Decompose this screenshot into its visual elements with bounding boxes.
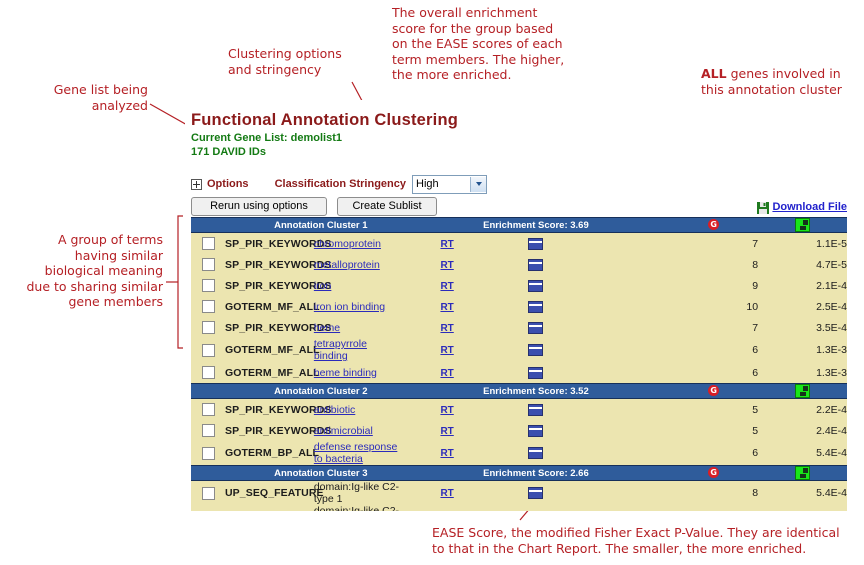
related-term-search-cell[interactable]: RT [403, 481, 492, 506]
annotation-clusters-body: Annotation Cluster 1Enrichment Score: 3.… [191, 218, 847, 512]
rt-link[interactable]: RT [440, 239, 453, 250]
cluster-all-genes-button[interactable]: G [669, 218, 758, 233]
gene-list-icon[interactable] [528, 301, 543, 313]
ease-pvalue: 2.5E-4 [758, 296, 847, 317]
genes-list-cell[interactable] [492, 481, 581, 506]
david-ids-count: 171 DAVID IDs [191, 146, 853, 158]
term-name-cell: antimicrobial [314, 420, 403, 441]
row-spacer [580, 481, 669, 506]
ease-pvalue: 5.4E-4 [758, 441, 847, 466]
cluster-header-pad [191, 218, 225, 233]
table-row: GOTERM_MF_ALLtetrapyrrole bindingRT61.3E… [191, 338, 847, 362]
row-spacer [580, 362, 669, 384]
row-checkbox-cell[interactable] [191, 275, 225, 296]
rt-link[interactable]: RT [440, 345, 453, 356]
cluster-chart-button[interactable] [758, 384, 847, 399]
rt-link[interactable]: RT [440, 281, 453, 292]
term-name-cell: domain:Ig-like C2-type 1 [314, 481, 403, 506]
genes-list-cell[interactable] [492, 317, 581, 338]
related-term-search-cell[interactable]: RT [403, 399, 492, 421]
page-title: Functional Annotation Clustering [191, 111, 853, 130]
row-spacer [580, 505, 669, 511]
row-checkbox[interactable] [202, 279, 215, 292]
table-row: SP_PIR_KEYWORDSantibioticRT52.2E-4 [191, 399, 847, 421]
cluster-header-pad [191, 384, 225, 399]
term-category: GOTERM_MF_ALL [225, 296, 314, 317]
row-checkbox[interactable] [202, 258, 215, 271]
cluster-name: Annotation Cluster 2 [225, 384, 403, 399]
term-name-cell: domain:Ig-like C2-type 2 [314, 505, 403, 511]
row-checkbox[interactable] [202, 424, 215, 437]
term-link[interactable]: metalloprotein [314, 259, 380, 271]
row-checkbox-cell[interactable] [191, 505, 225, 511]
row-spacer [580, 275, 669, 296]
genes-list-cell[interactable] [492, 338, 581, 362]
red-g-icon[interactable]: G [708, 385, 719, 396]
gene-count: 5 [669, 399, 758, 421]
row-checkbox-cell[interactable] [191, 233, 225, 255]
cluster-chart-button[interactable] [758, 218, 847, 233]
term-name-cell: tetrapyrrole binding [314, 338, 403, 362]
green-chart-icon[interactable] [795, 466, 810, 480]
row-checkbox-cell[interactable] [191, 338, 225, 362]
genes-list-cell[interactable] [492, 233, 581, 255]
term-category: SP_PIR_KEYWORDS [225, 420, 314, 441]
term-link[interactable]: heme [314, 322, 340, 334]
stringency-label: Classification Stringency [275, 178, 406, 190]
download-file-area[interactable]: Download File [757, 201, 847, 213]
related-term-search-cell[interactable]: RT [403, 233, 492, 255]
cluster-enrichment-score: Enrichment Score: 3.52 [403, 384, 670, 399]
term-category: UP_SEQ_FEATURE [225, 481, 314, 506]
chevron-down-icon[interactable] [470, 177, 486, 192]
cluster-header-row[interactable]: Annotation Cluster 1Enrichment Score: 3.… [191, 218, 847, 233]
related-term-search-cell[interactable]: RT [403, 441, 492, 466]
term-name-cell: metalloprotein [314, 254, 403, 275]
rt-link[interactable]: RT [440, 488, 453, 499]
table-row: SP_PIR_KEYWORDSchromoproteinRT71.1E-5 [191, 233, 847, 255]
row-checkbox-cell[interactable] [191, 254, 225, 275]
row-checkbox-cell[interactable] [191, 481, 225, 506]
cluster-all-genes-button[interactable]: G [669, 384, 758, 399]
cluster-name: Annotation Cluster 1 [225, 218, 403, 233]
action-button-row: Rerun using options Create Sublist [191, 197, 853, 216]
david-app-panel: Functional Annotation Clustering Current… [185, 100, 853, 511]
annotation-all-genes: ALL genes involved in this annotation cl… [701, 66, 861, 97]
gene-count: 6 [669, 338, 758, 362]
rt-link[interactable]: RT [440, 448, 453, 459]
table-row: UP_SEQ_FEATUREdomain:Ig-like C2-type 2RT… [191, 505, 847, 511]
green-chart-icon[interactable] [795, 218, 810, 232]
ease-pvalue: 4.7E-5 [758, 254, 847, 275]
term-link[interactable]: defense response to bacteria [314, 441, 397, 465]
ease-pvalue: 1.1E-5 [758, 233, 847, 255]
annotation-all-genes-bold: ALL [701, 66, 727, 81]
annotation-ease-score: EASE Score, the modified Fisher Exact P-… [432, 525, 862, 556]
table-row: SP_PIR_KEYWORDSantimicrobialRT52.4E-4 [191, 420, 847, 441]
gene-list-icon[interactable] [528, 259, 543, 271]
related-term-search-cell[interactable]: RT [403, 317, 492, 338]
gene-count: 8 [669, 254, 758, 275]
term-name-cell: antibiotic [314, 399, 403, 421]
term-link[interactable]: antibiotic [314, 404, 355, 416]
annotation-enrichment-score: The overall enrichment score for the gro… [392, 5, 582, 83]
download-file-link[interactable]: Download File [772, 201, 847, 213]
term-name-cell: iron [314, 275, 403, 296]
ease-pvalue: 2.1E-4 [758, 275, 847, 296]
term-text: domain:Ig-like C2-type 2 [314, 505, 399, 511]
gene-list-icon[interactable] [528, 404, 543, 416]
table-row: SP_PIR_KEYWORDSironRT92.1E-4 [191, 275, 847, 296]
table-row: UP_SEQ_FEATUREdomain:Ig-like C2-type 1RT… [191, 481, 847, 506]
term-category: SP_PIR_KEYWORDS [225, 317, 314, 338]
stringency-select[interactable]: High [412, 175, 487, 194]
related-term-search-cell[interactable]: RT [403, 296, 492, 317]
term-link[interactable]: iron [314, 280, 332, 292]
related-term-search-cell[interactable]: RT [403, 254, 492, 275]
rt-link[interactable]: RT [440, 302, 453, 313]
ease-pvalue: 2.4E-4 [758, 420, 847, 441]
annotation-clustering-options: Clustering options and stringency [228, 46, 388, 77]
row-checkbox[interactable] [202, 403, 215, 416]
cluster-name: Annotation Cluster 3 [225, 466, 403, 481]
row-spacer [580, 441, 669, 466]
save-disk-icon [757, 201, 769, 213]
annotation-gene-list: Gene list being analyzed [20, 82, 148, 113]
term-category: UP_SEQ_FEATURE [225, 505, 314, 511]
row-checkbox[interactable] [202, 447, 215, 460]
term-link[interactable]: iron ion binding [314, 301, 385, 313]
term-link[interactable]: heme binding [314, 367, 377, 379]
gene-list-icon[interactable] [528, 425, 543, 437]
create-sublist-button[interactable]: Create Sublist [337, 197, 437, 216]
table-row: GOTERM_BP_ALLdefense response to bacteri… [191, 441, 847, 466]
green-chart-icon[interactable] [795, 384, 810, 398]
row-checkbox-cell[interactable] [191, 362, 225, 384]
related-term-search-cell[interactable]: RT [403, 338, 492, 362]
gene-count: 6 [669, 362, 758, 384]
cluster-enrichment-score: Enrichment Score: 3.69 [403, 218, 670, 233]
row-spacer [580, 420, 669, 441]
ease-pvalue: 5.4E-4 [758, 505, 847, 511]
cluster-enrichment-score: Enrichment Score: 2.66 [403, 466, 670, 481]
row-checkbox[interactable] [202, 511, 215, 512]
ease-pvalue: 3.5E-4 [758, 317, 847, 338]
cluster-all-genes-button[interactable]: G [669, 466, 758, 481]
row-spacer [580, 399, 669, 421]
gene-list-icon[interactable] [528, 344, 543, 356]
term-link[interactable]: antimicrobial [314, 425, 373, 437]
term-name-cell: heme binding [314, 362, 403, 384]
term-name-cell: chromoprotein [314, 233, 403, 255]
term-link[interactable]: chromoprotein [314, 238, 381, 250]
term-category: SP_PIR_KEYWORDS [225, 233, 314, 255]
genes-list-cell[interactable] [492, 505, 581, 511]
table-row: SP_PIR_KEYWORDSmetalloproteinRT84.7E-5 [191, 254, 847, 275]
related-term-search-cell[interactable]: RT [403, 420, 492, 441]
cluster-chart-button[interactable] [758, 466, 847, 481]
term-category: SP_PIR_KEYWORDS [225, 254, 314, 275]
red-g-icon[interactable]: G [708, 219, 719, 230]
genes-list-cell[interactable] [492, 399, 581, 421]
term-category: SP_PIR_KEYWORDS [225, 399, 314, 421]
row-spacer [580, 296, 669, 317]
related-term-search-cell[interactable]: RT [403, 362, 492, 384]
genes-list-cell[interactable] [492, 275, 581, 296]
gene-list-icon[interactable] [528, 447, 543, 459]
row-checkbox[interactable] [202, 366, 215, 379]
row-checkbox[interactable] [202, 300, 215, 313]
rt-link[interactable]: RT [440, 368, 453, 379]
row-checkbox[interactable] [202, 237, 215, 250]
stringency-value: High [413, 178, 470, 190]
rt-link[interactable]: RT [440, 426, 453, 437]
ease-pvalue: 1.3E-3 [758, 338, 847, 362]
rt-link[interactable]: RT [440, 405, 453, 416]
term-category: GOTERM_MF_ALL [225, 362, 314, 384]
expand-plus-icon[interactable] [191, 179, 202, 190]
rt-link[interactable]: RT [440, 260, 453, 271]
row-checkbox-cell[interactable] [191, 317, 225, 338]
genes-list-cell[interactable] [492, 296, 581, 317]
genes-list-cell[interactable] [492, 362, 581, 384]
rerun-using-options-button[interactable]: Rerun using options [191, 197, 327, 216]
gene-count: 9 [669, 275, 758, 296]
red-g-icon[interactable]: G [708, 467, 719, 478]
gene-count: 8 [669, 505, 758, 511]
gene-count: 8 [669, 481, 758, 506]
related-term-search-cell[interactable]: RT [403, 275, 492, 296]
gene-count: 7 [669, 233, 758, 255]
gene-count: 6 [669, 441, 758, 466]
ease-pvalue: 5.4E-4 [758, 481, 847, 506]
row-checkbox-cell[interactable] [191, 296, 225, 317]
term-name-cell: defense response to bacteria [314, 441, 403, 466]
term-name-cell: heme [314, 317, 403, 338]
annotation-group-of-terms: A group of terms having similar biologic… [8, 232, 163, 310]
row-spacer [580, 317, 669, 338]
gene-count: 5 [669, 420, 758, 441]
table-row: GOTERM_MF_ALLiron ion bindingRT102.5E-4 [191, 296, 847, 317]
term-text: domain:Ig-like C2-type 1 [314, 481, 399, 505]
term-category: GOTERM_BP_ALL [225, 441, 314, 466]
ease-pvalue: 2.2E-4 [758, 399, 847, 421]
row-checkbox[interactable] [202, 344, 215, 357]
cluster-header-pad [191, 466, 225, 481]
gene-list-icon[interactable] [528, 238, 543, 250]
gene-list-icon[interactable] [528, 367, 543, 379]
term-name-cell: iron ion binding [314, 296, 403, 317]
row-spacer [580, 233, 669, 255]
term-category: GOTERM_MF_ALL [225, 338, 314, 362]
related-term-search-cell[interactable]: RT [403, 505, 492, 511]
gene-list-icon[interactable] [528, 322, 543, 334]
genes-list-cell[interactable] [492, 254, 581, 275]
table-row: SP_PIR_KEYWORDShemeRT73.5E-4 [191, 317, 847, 338]
annotation-clusters-table: Annotation Cluster 1Enrichment Score: 3.… [191, 217, 847, 511]
row-spacer [580, 254, 669, 275]
table-row: GOTERM_MF_ALLheme bindingRT61.3E-3 [191, 362, 847, 384]
row-checkbox[interactable] [202, 487, 215, 500]
options-toolbar: Options Classification Stringency High [191, 175, 853, 193]
term-link[interactable]: tetrapyrrole binding [314, 338, 367, 362]
rt-link[interactable]: RT [440, 323, 453, 334]
row-checkbox-cell[interactable] [191, 441, 225, 466]
gene-list-icon[interactable] [528, 487, 543, 499]
current-gene-list: Current Gene List: demolist1 [191, 132, 853, 144]
gene-list-icon[interactable] [528, 280, 543, 292]
genes-list-cell[interactable] [492, 420, 581, 441]
row-checkbox[interactable] [202, 321, 215, 334]
cluster-header-row[interactable]: Annotation Cluster 3Enrichment Score: 2.… [191, 466, 847, 481]
options-label[interactable]: Options [207, 178, 249, 190]
ease-pvalue: 1.3E-3 [758, 362, 847, 384]
row-spacer [580, 338, 669, 362]
term-category: SP_PIR_KEYWORDS [225, 275, 314, 296]
gene-count: 10 [669, 296, 758, 317]
cluster-header-row[interactable]: Annotation Cluster 2Enrichment Score: 3.… [191, 384, 847, 399]
gene-count: 7 [669, 317, 758, 338]
row-checkbox-cell[interactable] [191, 420, 225, 441]
genes-list-cell[interactable] [492, 441, 581, 466]
row-checkbox-cell[interactable] [191, 399, 225, 421]
